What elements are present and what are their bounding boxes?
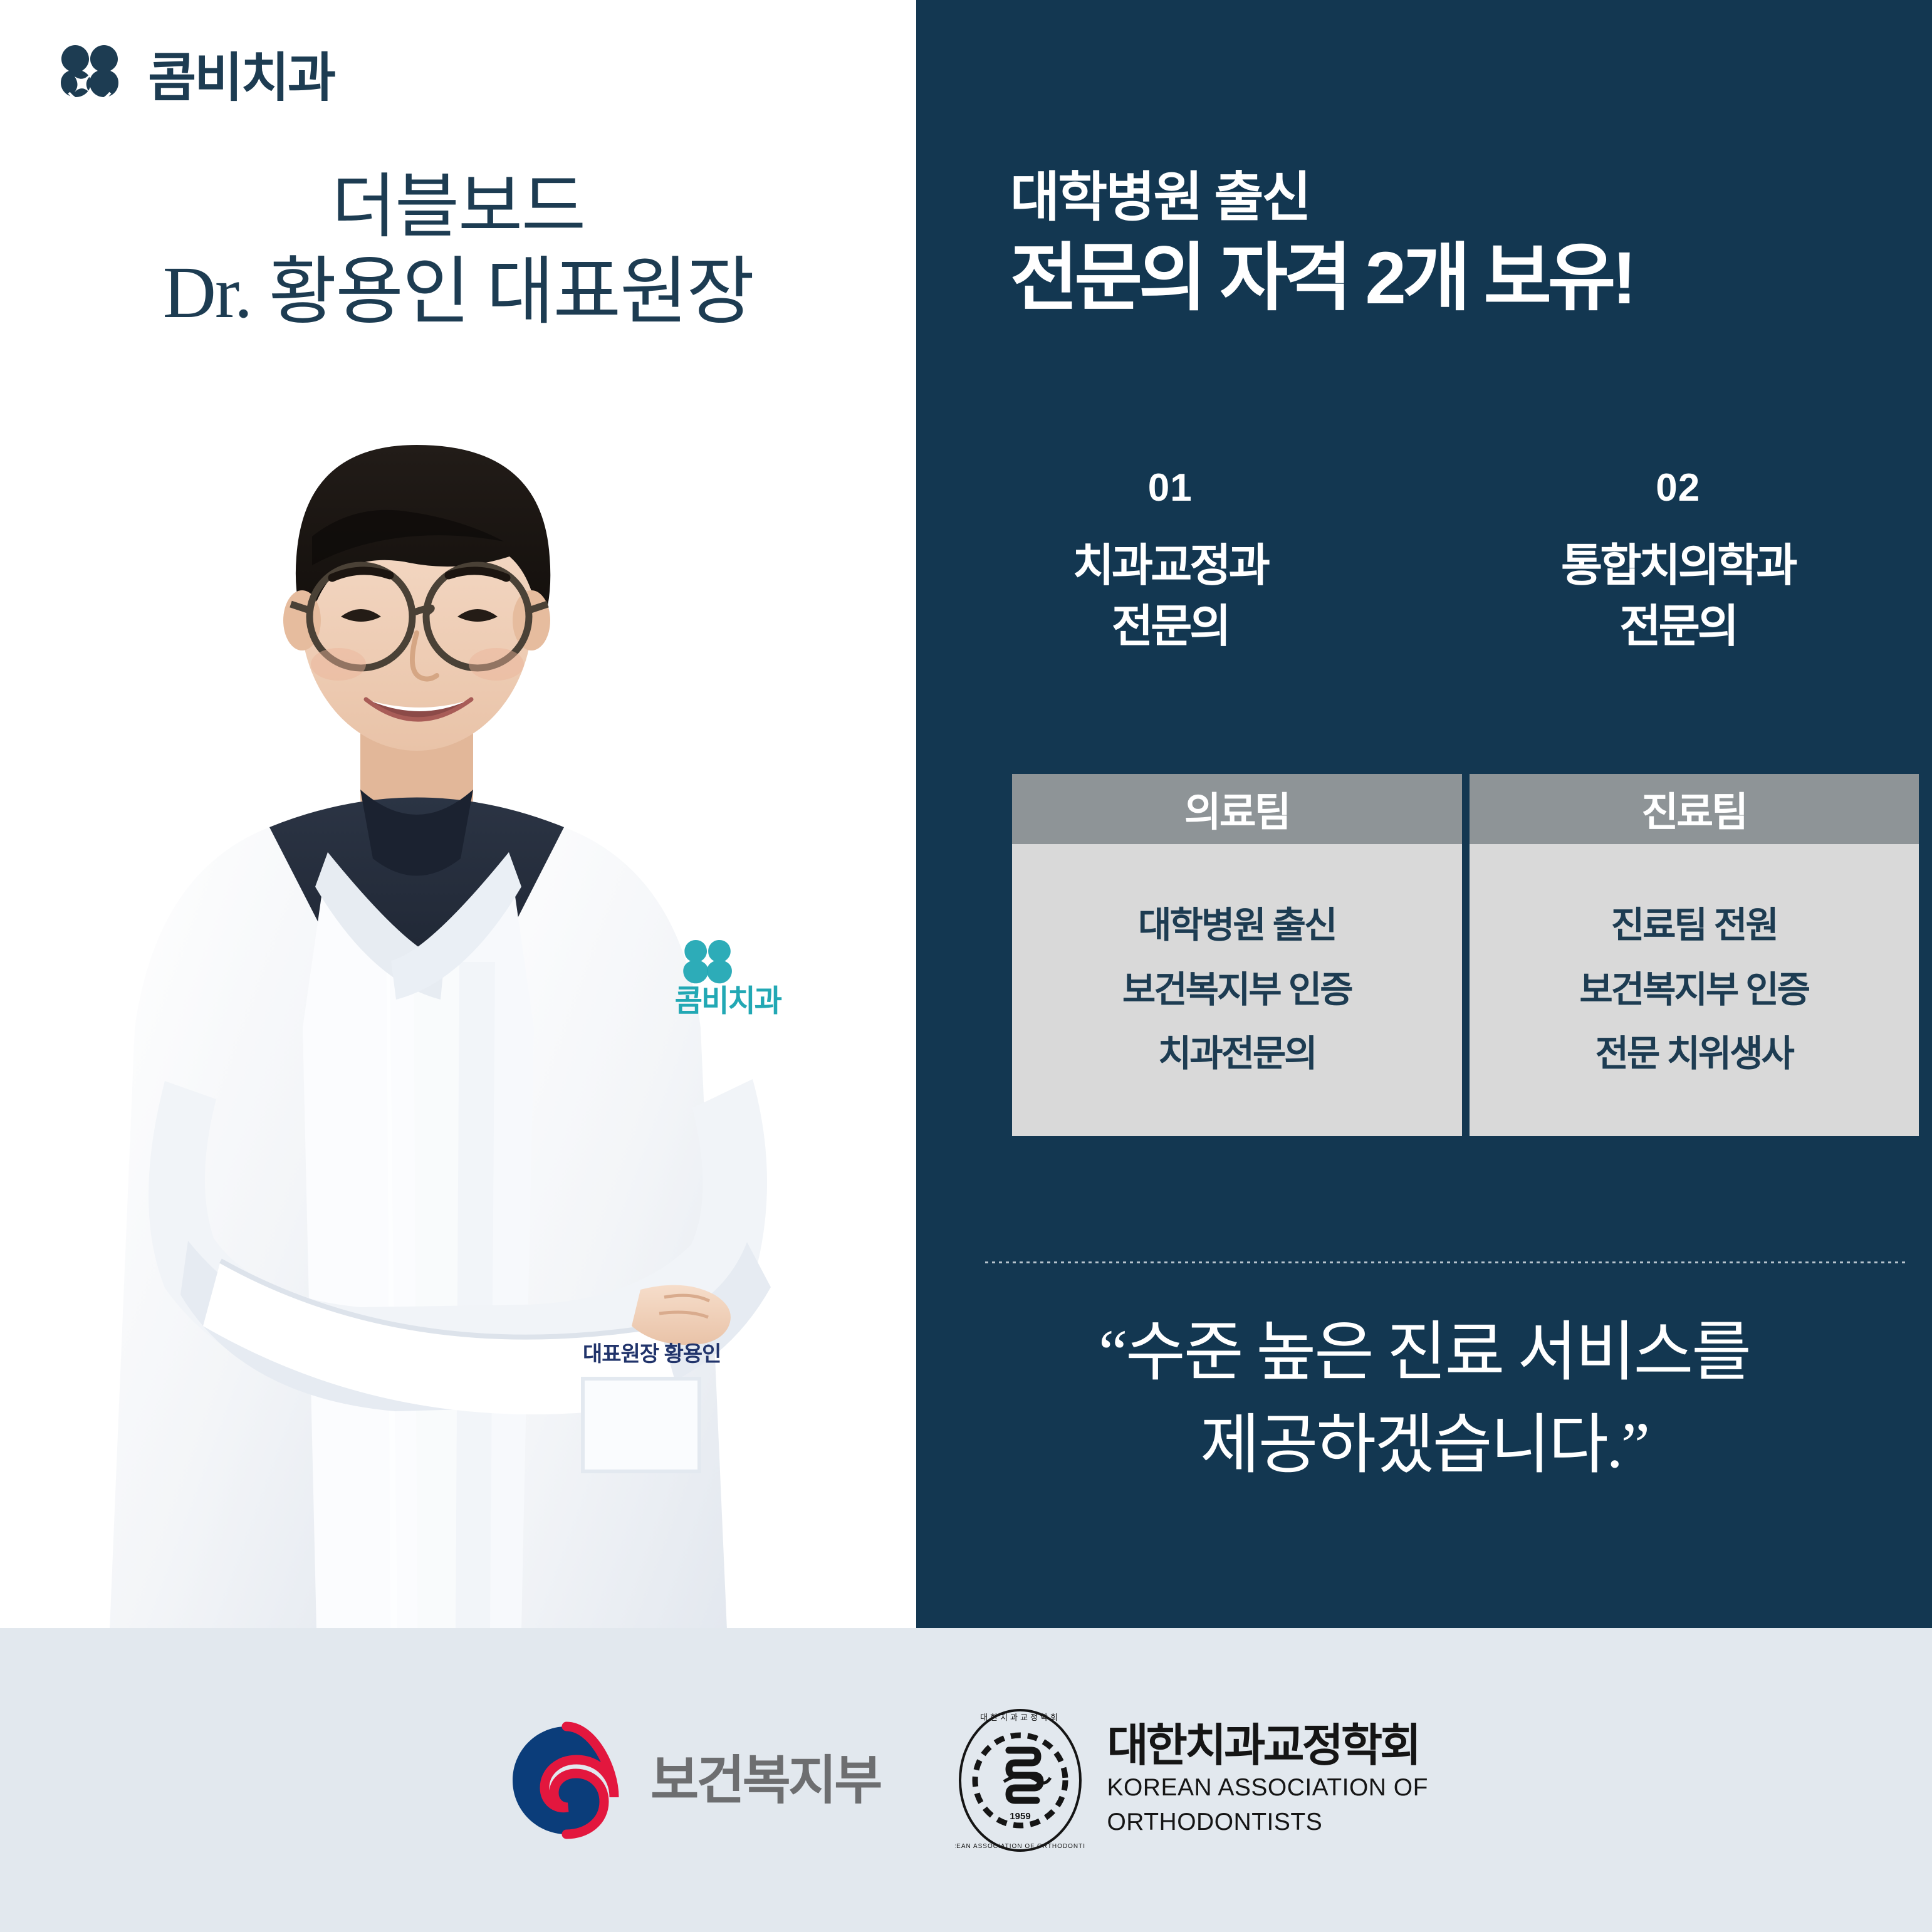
team-row: 진료팀 전원	[1611, 905, 1777, 947]
team-table: 의료팀 대학병원 출신 보건복지부 인증 치과전문의 진료팀 진료팀 전원 보건…	[1012, 774, 1919, 1136]
specialty-number: 01	[916, 467, 1424, 509]
svg-text:콤비치과: 콤비치과	[675, 984, 782, 1018]
specialty-item-02: 02 통합치의학과 전문의	[1424, 467, 1932, 658]
quote-line2: 제공하겠습니다.”	[916, 1399, 1932, 1492]
mohw-label: 보건복지부	[650, 1754, 880, 1807]
specialty-role: 전문의	[1424, 597, 1932, 657]
quote-line1: “수준 높은 진료 서비스를	[916, 1307, 1932, 1399]
team-column-clinical: 진료팀 진료팀 전원 보건복지부 인증 전문 치위생사	[1470, 774, 1919, 1136]
footer-bar: 보건복지부 1959 대한치과교정학회 KOREAN ASSOCIATION O…	[0, 1628, 1932, 1932]
team-row: 전문 치위생사	[1595, 1033, 1793, 1075]
left-title-block: 더블보드 Dr. 황용인 대표원장	[0, 166, 916, 336]
brand-name: 콤비치과	[148, 51, 334, 104]
team-column-header: 진료팀	[1470, 774, 1919, 844]
kao-seal-year: 1959	[1010, 1811, 1031, 1822]
kao-label-block: 대한치과교정학회 KOREAN ASSOCIATION OF ORTHODONT…	[1107, 1723, 1428, 1836]
korea-government-taegeuk-icon	[504, 1718, 629, 1843]
team-column-body: 대학병원 출신 보건복지부 인증 치과전문의	[1012, 844, 1462, 1136]
team-row: 대학병원 출신	[1138, 905, 1335, 947]
kao-label-ko: 대한치과교정학회	[1107, 1723, 1428, 1768]
left-title-line2: Dr. 황용인 대표원장	[0, 249, 916, 336]
poster-root: 콤비치과 더블보드 Dr. 황용인 대표원장	[0, 0, 1932, 1932]
heading-main: 전문의 자격 2개 보유!	[1010, 236, 1932, 321]
footer-logo-mohw: 보건복지부	[504, 1718, 880, 1843]
svg-text:대한치과교정학회: 대한치과교정학회	[981, 1713, 1061, 1722]
doctor-portrait: 콤비치과 대표원장 황용인	[0, 351, 916, 1628]
team-row: 치과전문의	[1158, 1033, 1316, 1075]
footer-logo-kao: 1959 대한치과교정학회 KOREAN ASSOCIATION OF ORTH…	[955, 1705, 1428, 1856]
team-row: 보건복지부 인증	[1579, 969, 1809, 1011]
specialty-row: 01 치과교정과 전문의 02 통합치의학과 전문의	[916, 467, 1932, 658]
right-heading: 대학병원 출신 전문의 자격 2개 보유!	[916, 168, 1932, 320]
team-column-body: 진료팀 전원 보건복지부 인증 전문 치위생사	[1470, 844, 1919, 1136]
coat-logo: 콤비치과	[675, 940, 782, 1018]
kao-label-en-line2: ORTHODONTISTS	[1107, 1808, 1428, 1837]
combi-clover-icon	[50, 39, 129, 117]
specialty-item-01: 01 치과교정과 전문의	[916, 467, 1424, 658]
specialty-number: 02	[1424, 467, 1932, 509]
quote-block: “수준 높은 진료 서비스를 제공하겠습니다.”	[916, 1307, 1932, 1491]
brand-logo: 콤비치과	[50, 39, 334, 117]
left-title-line1: 더블보드	[0, 166, 916, 249]
kao-seal-icon: 1959 대한치과교정학회 KOREAN ASSOCIATION OF ORTH…	[955, 1705, 1085, 1856]
right-panel: 대학병원 출신 전문의 자격 2개 보유! 01 치과교정과 전문의 02 통합…	[916, 0, 1932, 1628]
specialty-dept: 치과교정과	[916, 536, 1424, 597]
left-panel: 콤비치과 더블보드 Dr. 황용인 대표원장	[0, 0, 916, 1628]
team-column-header: 의료팀	[1012, 774, 1462, 844]
specialty-dept: 통합치의학과	[1424, 536, 1932, 597]
kao-label-en-line1: KOREAN ASSOCIATION OF	[1107, 1773, 1428, 1802]
svg-text:KOREAN ASSOCIATION OF ORTHODON: KOREAN ASSOCIATION OF ORTHODONTISTS	[955, 1843, 1085, 1850]
dotted-divider	[985, 1261, 1906, 1263]
coat-embroidery: 대표원장 황용인	[583, 1342, 721, 1366]
heading-sub: 대학병원 출신	[1010, 168, 1932, 227]
team-column-medical: 의료팀 대학병원 출신 보건복지부 인증 치과전문의	[1012, 774, 1462, 1136]
team-row: 보건복지부 인증	[1122, 969, 1352, 1011]
doctor-head	[283, 445, 550, 751]
specialty-role: 전문의	[916, 597, 1424, 657]
